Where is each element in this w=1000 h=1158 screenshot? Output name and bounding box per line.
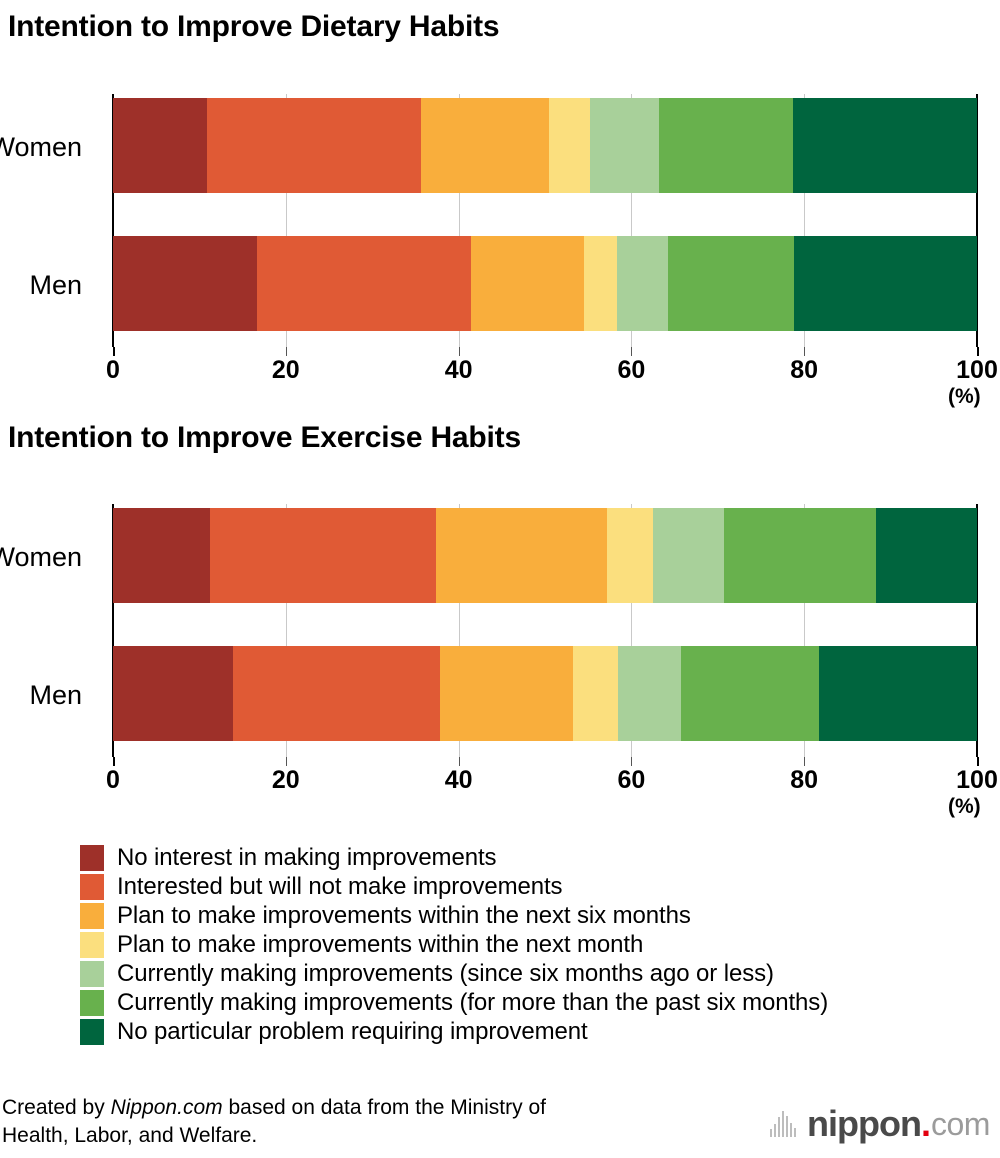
brand-name: nippon bbox=[807, 1106, 921, 1142]
tick-mark bbox=[977, 347, 979, 356]
x-tick-label: 40 bbox=[445, 768, 473, 793]
tick-mark bbox=[286, 757, 287, 766]
bar-segment bbox=[421, 98, 549, 193]
legend-swatch-icon bbox=[80, 903, 104, 929]
legend-swatch-icon bbox=[80, 961, 104, 987]
bar-segment bbox=[617, 236, 668, 331]
x-tick-label: 40 bbox=[445, 358, 473, 383]
bar-segment bbox=[659, 98, 793, 193]
tick-mark bbox=[804, 347, 805, 356]
legend-label: Currently making improvements (since six… bbox=[117, 962, 774, 986]
stacked-bar bbox=[113, 508, 977, 603]
bar-segment bbox=[584, 236, 617, 331]
chart-1-category-label-women: Women bbox=[0, 134, 82, 161]
bar-segment bbox=[440, 646, 574, 741]
legend-item[interactable]: Plan to make improvements within the nex… bbox=[80, 901, 980, 930]
chart-legend: No interest in making improvementsIntere… bbox=[80, 843, 980, 1046]
bar-segment bbox=[573, 646, 617, 741]
bar-segment bbox=[257, 236, 470, 331]
tick-mark bbox=[286, 347, 287, 356]
legend-item[interactable]: Interested but will not make improvement… bbox=[80, 872, 980, 901]
legend-label: Currently making improvements (for more … bbox=[117, 991, 828, 1015]
chart-1-category-label-men: Men bbox=[29, 272, 82, 299]
bar-segment bbox=[436, 508, 607, 603]
bar-segment bbox=[113, 236, 257, 331]
chart-2-bar-row-men bbox=[113, 646, 977, 741]
bar-segment bbox=[793, 98, 977, 193]
bar-segment bbox=[653, 508, 724, 603]
nippon-wave-mark-icon bbox=[770, 1111, 798, 1137]
legend-item[interactable]: No interest in making improvements bbox=[80, 843, 980, 872]
chart-2-bar-row-women bbox=[113, 508, 977, 603]
chart-1-title: Intention to Improve Dietary Habits bbox=[8, 12, 499, 42]
x-tick-label: 80 bbox=[790, 358, 818, 383]
legend-label: No interest in making improvements bbox=[117, 846, 496, 870]
tick-mark bbox=[459, 347, 460, 356]
credit-line1-suffix: based on data from the Ministry of bbox=[223, 1096, 546, 1119]
x-tick-label: 80 bbox=[790, 768, 818, 793]
tick-mark bbox=[459, 757, 460, 766]
x-tick-label: 20 bbox=[272, 358, 300, 383]
legend-label: No particular problem requiring improvem… bbox=[117, 1020, 588, 1044]
bar-segment bbox=[724, 508, 876, 603]
legend-item[interactable]: Currently making improvements (since six… bbox=[80, 959, 980, 988]
credit-text: Created by Nippon.com based on data from… bbox=[2, 1094, 642, 1151]
credit-line2: Health, Labor, and Welfare. bbox=[2, 1124, 257, 1147]
bar-segment bbox=[113, 646, 233, 741]
bar-segment bbox=[668, 236, 794, 331]
x-tick-label: 100 bbox=[956, 358, 998, 383]
tick-mark bbox=[631, 347, 632, 356]
bar-segment bbox=[113, 98, 207, 193]
chart-2-exercise-habits: 020406080100 (%) Women Men bbox=[0, 490, 1000, 790]
x-tick-label: 0 bbox=[106, 768, 120, 793]
chart-2-category-label-men: Men bbox=[29, 682, 82, 709]
bar-segment bbox=[607, 508, 653, 603]
nippon-com-logo[interactable]: nippon.com bbox=[770, 1106, 990, 1142]
x-tick-label: 0 bbox=[106, 358, 120, 383]
bar-segment bbox=[113, 508, 210, 603]
tick-mark bbox=[804, 757, 805, 766]
chart-2-category-label-women: Women bbox=[0, 544, 82, 571]
tick-mark bbox=[113, 757, 115, 766]
chart-1-dietary-habits: 020406080100 (%) Women Men bbox=[0, 80, 1000, 380]
legend-swatch-icon bbox=[80, 874, 104, 900]
stacked-bar bbox=[113, 646, 977, 741]
stacked-bar bbox=[113, 236, 977, 331]
bar-segment bbox=[794, 236, 977, 331]
bar-segment bbox=[207, 98, 421, 193]
bar-segment bbox=[471, 236, 584, 331]
tick-mark bbox=[977, 757, 979, 766]
chart-1-bar-row-men bbox=[113, 236, 977, 331]
chart-2-title: Intention to Improve Exercise Habits bbox=[8, 423, 521, 453]
chart-1-bar-row-women bbox=[113, 98, 977, 193]
chart-1-unit-label: (%) bbox=[948, 386, 981, 407]
legend-label: Plan to make improvements within the nex… bbox=[117, 904, 691, 928]
legend-swatch-icon bbox=[80, 990, 104, 1016]
chart-2-unit-label: (%) bbox=[948, 796, 981, 817]
bar-segment bbox=[618, 646, 681, 741]
bar-segment bbox=[681, 646, 819, 741]
legend-swatch-icon bbox=[80, 932, 104, 958]
legend-item[interactable]: Currently making improvements (for more … bbox=[80, 988, 980, 1017]
bar-segment bbox=[590, 98, 659, 193]
brand-dot: . bbox=[921, 1106, 931, 1142]
x-tick-label: 100 bbox=[956, 768, 998, 793]
tick-mark bbox=[113, 347, 115, 356]
legend-item[interactable]: No particular problem requiring improvem… bbox=[80, 1017, 980, 1046]
x-tick-label: 60 bbox=[617, 768, 645, 793]
bar-segment bbox=[876, 508, 977, 603]
brand-tld: com bbox=[931, 1108, 990, 1140]
legend-label: Plan to make improvements within the nex… bbox=[117, 933, 643, 957]
x-tick-label: 20 bbox=[272, 768, 300, 793]
bar-segment bbox=[819, 646, 977, 741]
bar-segment bbox=[210, 508, 436, 603]
stacked-bar bbox=[113, 98, 977, 193]
credit-line1-prefix: Created by bbox=[2, 1096, 111, 1119]
tick-mark bbox=[631, 757, 632, 766]
infographic-page: Intention to Improve Dietary Habits 0204… bbox=[0, 0, 1000, 1158]
bar-segment bbox=[233, 646, 439, 741]
legend-swatch-icon bbox=[80, 845, 104, 871]
bar-segment bbox=[549, 98, 590, 193]
legend-swatch-icon bbox=[80, 1019, 104, 1045]
legend-item[interactable]: Plan to make improvements within the nex… bbox=[80, 930, 980, 959]
credit-source-name: Nippon.com bbox=[111, 1096, 223, 1119]
x-tick-label: 60 bbox=[617, 358, 645, 383]
legend-label: Interested but will not make improvement… bbox=[117, 875, 562, 899]
